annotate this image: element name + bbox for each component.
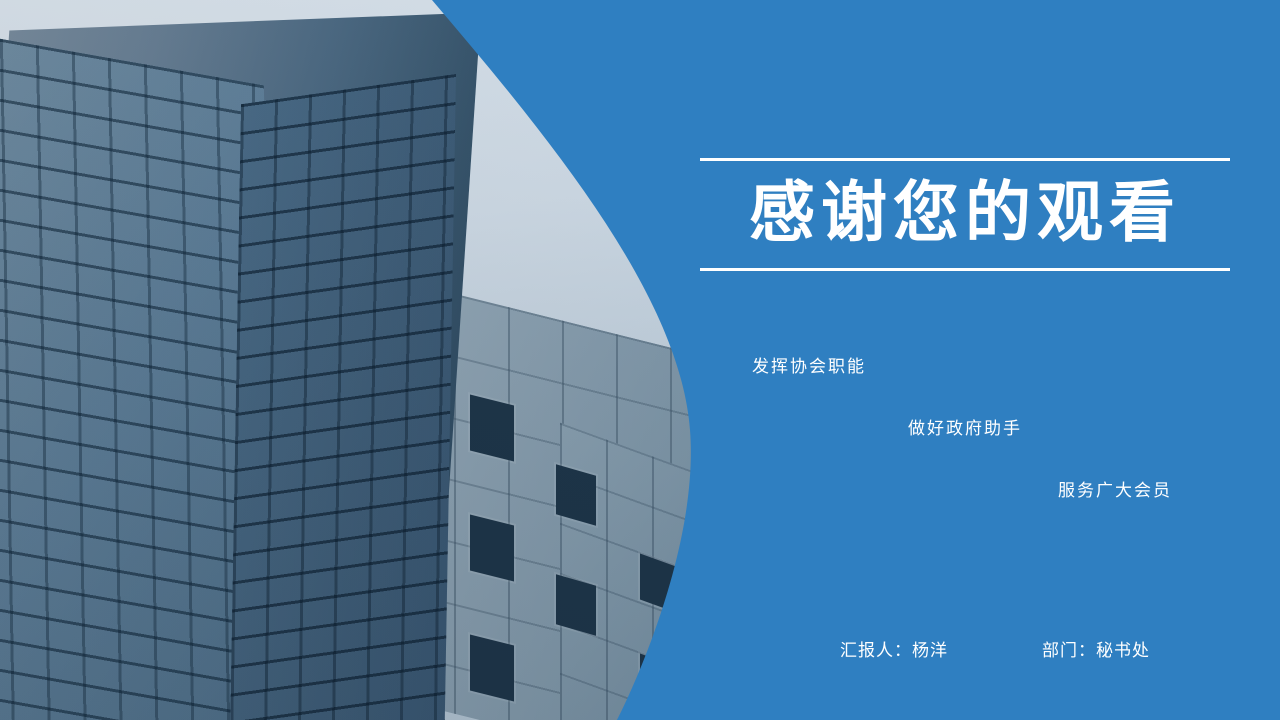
department-label: 部门：秘书处 bbox=[948, 636, 1150, 661]
dark-window bbox=[470, 515, 514, 582]
slide-footer: 汇报人：杨洋 部门：秘书处 bbox=[700, 636, 1230, 661]
subline-list: 发挥协会职能 做好政府助手 服务广大会员 bbox=[700, 352, 1230, 538]
dark-window bbox=[470, 395, 514, 462]
slide-content: 感谢您的观看 发挥协会职能 做好政府助手 服务广大会员 汇报人：杨洋 部门：秘书… bbox=[700, 0, 1280, 720]
tower-glass-facade-right bbox=[229, 74, 456, 720]
subline-2: 做好政府助手 bbox=[700, 414, 1230, 476]
subline-3: 服务广大会员 bbox=[700, 476, 1230, 538]
subline-1: 发挥协会职能 bbox=[700, 352, 1230, 414]
presenter-label: 汇报人：杨洋 bbox=[700, 636, 948, 661]
building-photo bbox=[0, 0, 720, 720]
page-title: 感谢您的观看 bbox=[700, 161, 1230, 268]
dark-window bbox=[470, 635, 514, 702]
slide: 感谢您的观看 发挥协会职能 做好政府助手 服务广大会员 汇报人：杨洋 部门：秘书… bbox=[0, 0, 1280, 720]
title-rule-bottom bbox=[700, 268, 1230, 271]
title-block: 感谢您的观看 bbox=[700, 158, 1230, 271]
